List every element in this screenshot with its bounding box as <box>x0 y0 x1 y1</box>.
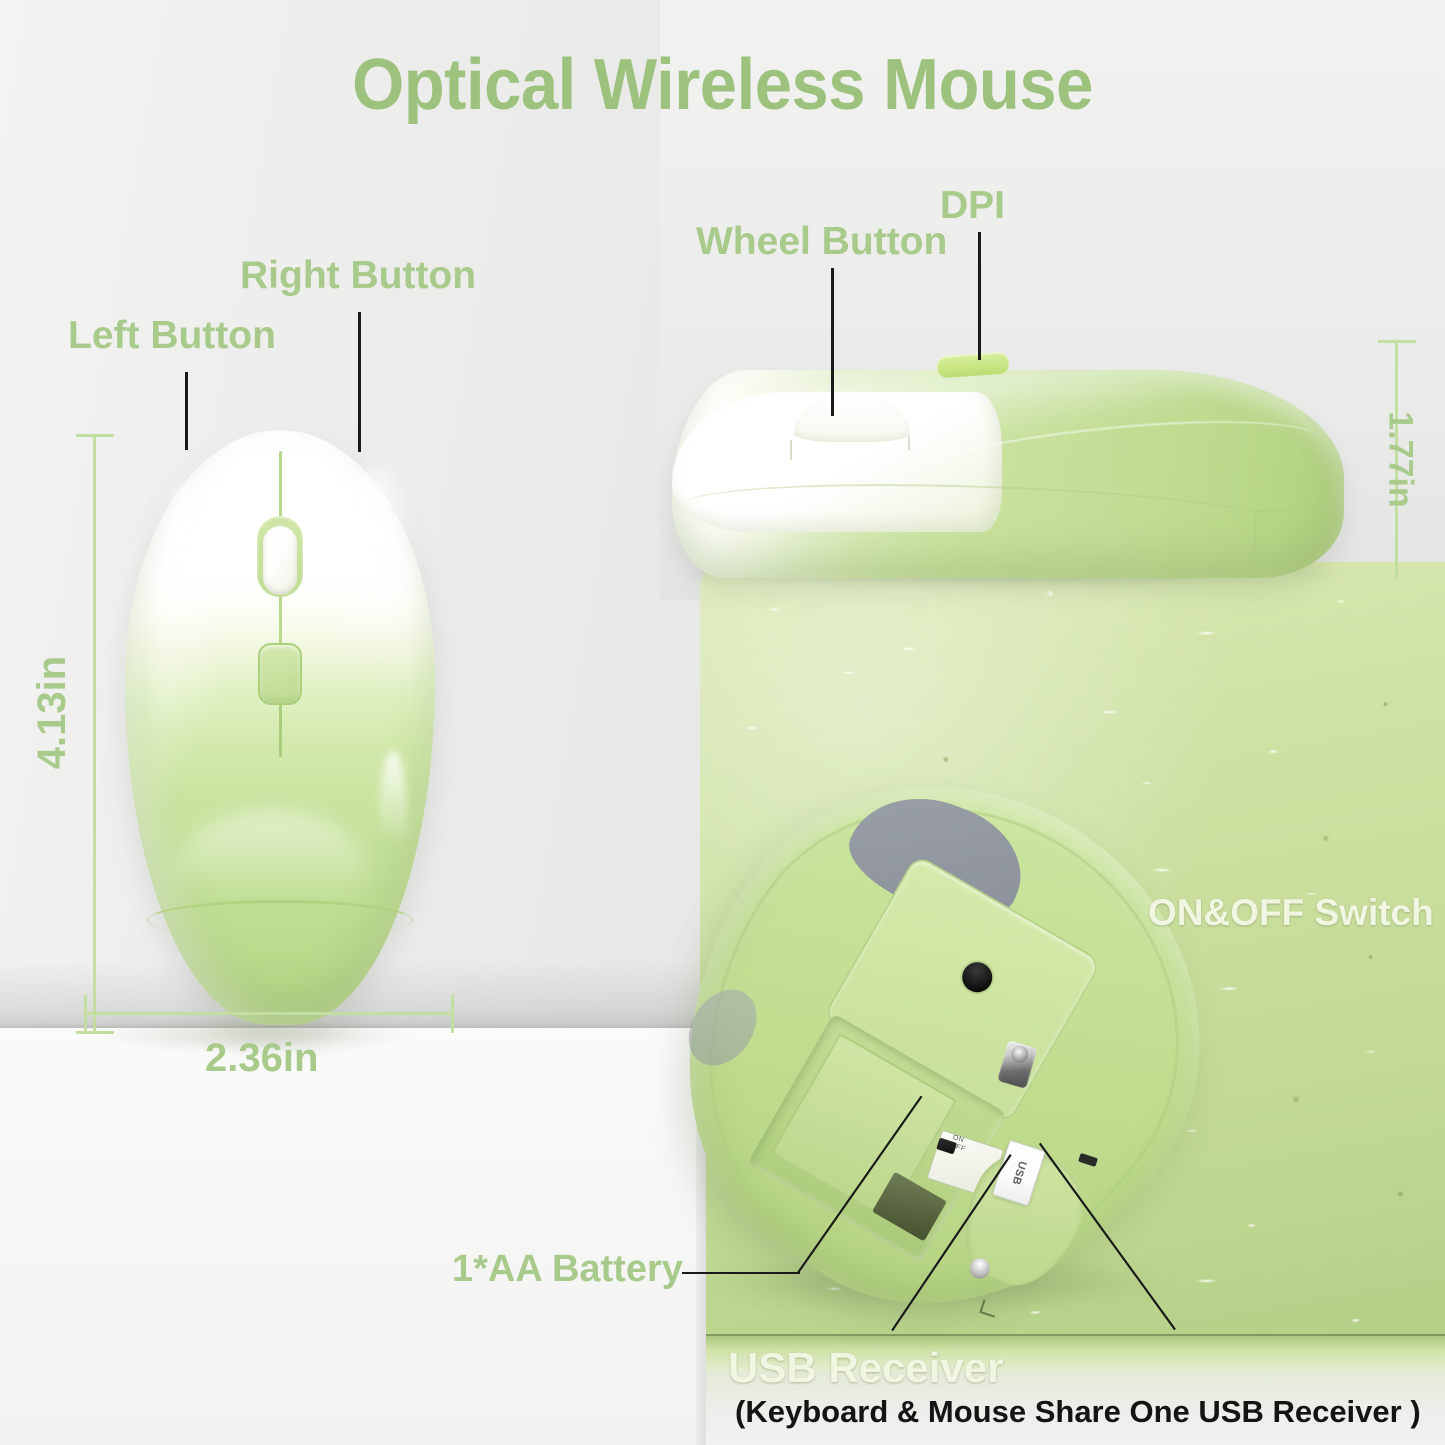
leader-line-wheel-button <box>831 268 834 416</box>
dim-text-depth: 1.77in <box>1381 411 1420 507</box>
mouse-side-button-seam-1 <box>790 440 792 460</box>
mouse-top-seam-lower <box>279 701 282 758</box>
usb-dongle-label: USB <box>1009 1159 1028 1186</box>
label-usb-receiver: USB Receiver <box>728 1347 1003 1389</box>
leader-line-dpi <box>978 232 981 360</box>
mouse-top-view <box>125 430 435 1025</box>
infographic-stage: Optical Wireless Mouse <box>0 0 1445 1445</box>
dim-cap-height-bottom <box>76 1031 114 1034</box>
leader-line-right-button <box>358 312 361 452</box>
label-dpi: DPI <box>940 186 1005 225</box>
mouse-top-highlight-right <box>336 466 417 823</box>
leader-line-left-button <box>185 372 188 450</box>
label-usb-receiver-note: (Keyboard & Mouse Share One USB Receiver… <box>735 1396 1421 1427</box>
mouse-top-highlight-right-lower <box>379 751 407 882</box>
mouse-top-seam-middle <box>279 597 282 645</box>
page-title: Optical Wireless Mouse <box>51 44 1395 126</box>
mouse-foot-marker <box>980 1299 1000 1317</box>
label-left-button: Left Button <box>68 316 276 355</box>
white-ledge <box>0 1028 700 1445</box>
label-right-button: Right Button <box>240 256 476 295</box>
label-battery: 1*AA Battery <box>452 1250 683 1288</box>
mouse-side-button-seam-2 <box>908 436 910 450</box>
dim-line-width <box>84 1012 454 1015</box>
scroll-wheel[interactable] <box>263 526 297 595</box>
label-wheel-button: Wheel Button <box>696 222 947 261</box>
mouse-side-view <box>672 352 1344 582</box>
dim-text-height: 4.13in <box>30 656 75 769</box>
leader-line-battery-stub <box>682 1272 800 1274</box>
dim-line-height <box>93 434 96 1034</box>
dim-cap-width-right <box>451 995 454 1033</box>
mouse-side-rear-step <box>1254 510 1326 560</box>
label-on-off-switch: ON&OFF Switch <box>1148 894 1434 931</box>
dim-text-width: 2.36in <box>205 1036 318 1081</box>
dpi-button[interactable] <box>258 643 302 705</box>
mouse-top-parting-line <box>147 900 414 940</box>
